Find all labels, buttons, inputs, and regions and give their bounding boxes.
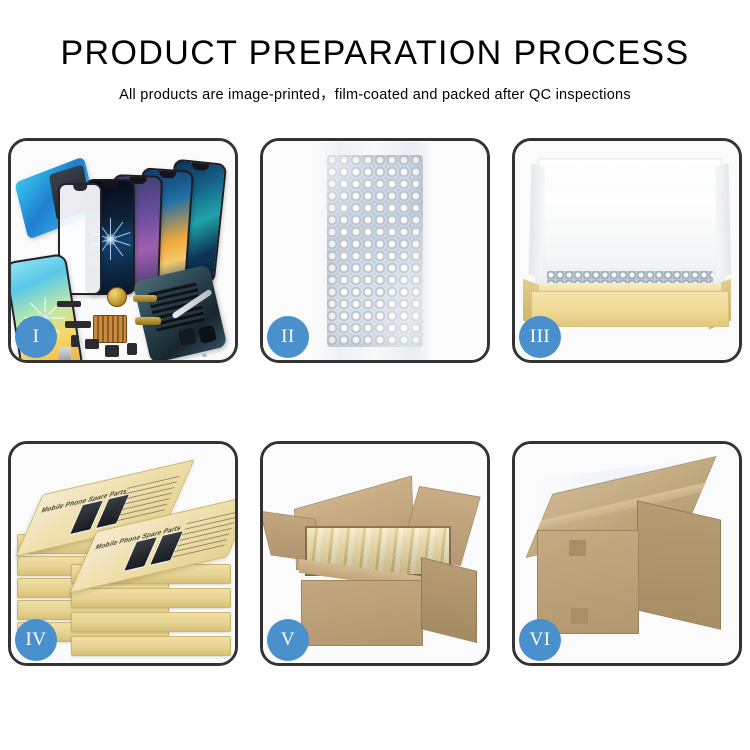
connector-icon-2 bbox=[85, 339, 99, 349]
product-preparation-infographic: PRODUCT PREPARATION PROCESS All products… bbox=[0, 0, 750, 750]
process-step-panel-2: II bbox=[260, 138, 490, 363]
page-subtitle: All products are image-printed，film-coat… bbox=[0, 83, 750, 104]
box-edge-f2 bbox=[71, 588, 231, 608]
page-title: PRODUCT PREPARATION PROCESS bbox=[0, 34, 750, 73]
header: PRODUCT PREPARATION PROCESS All products… bbox=[0, 34, 750, 104]
camera-module-icon bbox=[105, 345, 119, 357]
screw-icon-2 bbox=[202, 352, 207, 357]
speaker-mesh-icon bbox=[57, 301, 81, 307]
box-spec-lines-front bbox=[171, 511, 235, 561]
carton-tab-upper bbox=[569, 540, 586, 556]
carton-side-face bbox=[421, 557, 477, 643]
process-step-grid: I II bbox=[8, 138, 742, 666]
small-components-group bbox=[61, 291, 201, 360]
flex-cable-icon-2 bbox=[135, 317, 161, 325]
process-step-panel-3: III bbox=[512, 138, 742, 363]
battery-connector-icon bbox=[127, 343, 137, 355]
step-badge-6: VI bbox=[519, 619, 561, 661]
carton-tab-lower bbox=[571, 608, 588, 624]
bubble-wrap-texture bbox=[327, 155, 423, 347]
process-step-panel-1: I bbox=[8, 138, 238, 363]
step-badge-1: I bbox=[15, 316, 57, 358]
sim-tray-icon bbox=[59, 347, 71, 360]
flex-cable-icon-1 bbox=[133, 295, 157, 302]
flex-cable-icon-3 bbox=[65, 321, 91, 328]
foam-insert bbox=[545, 193, 715, 267]
process-step-panel-5: V bbox=[260, 441, 490, 666]
step-badge-2: II bbox=[267, 316, 309, 358]
process-step-panel-4: Mobile Phone Spare Parts Mobile Phone Sp… bbox=[8, 441, 238, 666]
sealed-carton-side-face bbox=[637, 500, 721, 629]
box-edge-f4 bbox=[71, 636, 231, 656]
process-step-panel-6: VI bbox=[512, 441, 742, 666]
step-badge-4: IV bbox=[15, 619, 57, 661]
sealed-carton-front-face bbox=[537, 530, 639, 634]
connector-icon-1 bbox=[71, 335, 79, 347]
carton-front-face bbox=[301, 580, 423, 646]
step-badge-3: III bbox=[519, 316, 561, 358]
box-front-face bbox=[531, 291, 729, 327]
vibration-motor-icon bbox=[107, 287, 127, 307]
box-edge-f3 bbox=[71, 612, 231, 632]
step-badge-5: V bbox=[267, 619, 309, 661]
